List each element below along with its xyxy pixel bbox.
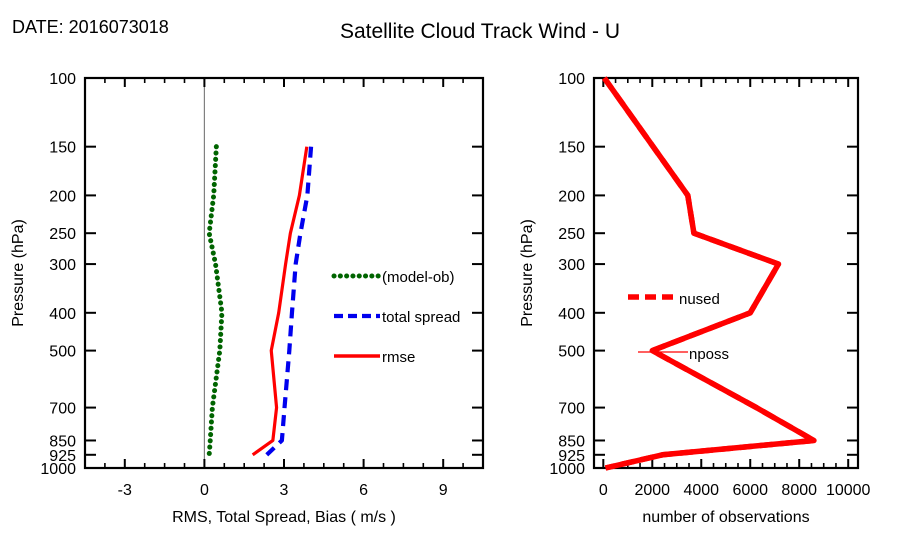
y-axis-label: Pressure (hPa) (10, 219, 27, 327)
x-axis-label: number of observations (642, 509, 809, 526)
y-tick-label: 400 (49, 306, 76, 323)
y-tick-label: 100 (558, 71, 585, 88)
x-tick-label: 6 (359, 482, 368, 499)
x-tick-label: 4000 (683, 482, 719, 499)
page-title: Satellite Cloud Track Wind - U (340, 20, 620, 43)
legend-label: rmse (382, 349, 415, 366)
y-tick-label: 150 (49, 140, 76, 157)
date-label: DATE: 2016073018 (12, 17, 169, 37)
legend-label: nposs (689, 346, 729, 363)
series-line-modelob (209, 147, 222, 455)
legend-label: (model-ob) (382, 269, 455, 286)
y-tick-label: 500 (558, 344, 585, 361)
y-axis-label: Pressure (hPa) (519, 219, 536, 327)
x-tick-label: 3 (280, 482, 289, 499)
x-tick-label: -3 (118, 482, 132, 499)
y-tick-label: 200 (49, 188, 76, 205)
y-tick-label: 300 (558, 257, 585, 274)
y-tick-label: 500 (49, 344, 76, 361)
y-tick-label: 1000 (40, 461, 76, 478)
x-tick-label: 0 (599, 482, 608, 499)
y-tick-label: 200 (558, 188, 585, 205)
y-tick-label: 700 (558, 401, 585, 418)
x-tick-label: 0 (200, 482, 209, 499)
x-tick-label: 9 (439, 482, 448, 499)
plot-frame-right (594, 78, 858, 468)
legend-label: nused (679, 291, 720, 308)
series-line-totalspread (267, 147, 311, 455)
y-tick-label: 700 (49, 401, 76, 418)
x-tick-label: 2000 (634, 482, 670, 499)
x-tick-label: 6000 (732, 482, 768, 499)
y-tick-label: 250 (49, 226, 76, 243)
y-tick-label: 150 (558, 140, 585, 157)
y-tick-label: 1000 (549, 461, 585, 478)
x-tick-label: 10000 (826, 482, 871, 499)
x-axis-label: RMS, Total Spread, Bias ( m/s ) (172, 509, 396, 526)
series-line-nused (604, 78, 814, 468)
x-tick-label: 8000 (781, 482, 817, 499)
figure-canvas: DATE: 2016073018Satellite Cloud Track Wi… (0, 0, 900, 560)
y-tick-label: 400 (558, 306, 585, 323)
legend-label: total spread (382, 309, 460, 326)
series-line-rmse (253, 147, 307, 455)
y-tick-label: 250 (558, 226, 585, 243)
series-line-nposs (604, 78, 814, 468)
y-tick-label: 300 (49, 257, 76, 274)
y-tick-label: 100 (49, 71, 76, 88)
